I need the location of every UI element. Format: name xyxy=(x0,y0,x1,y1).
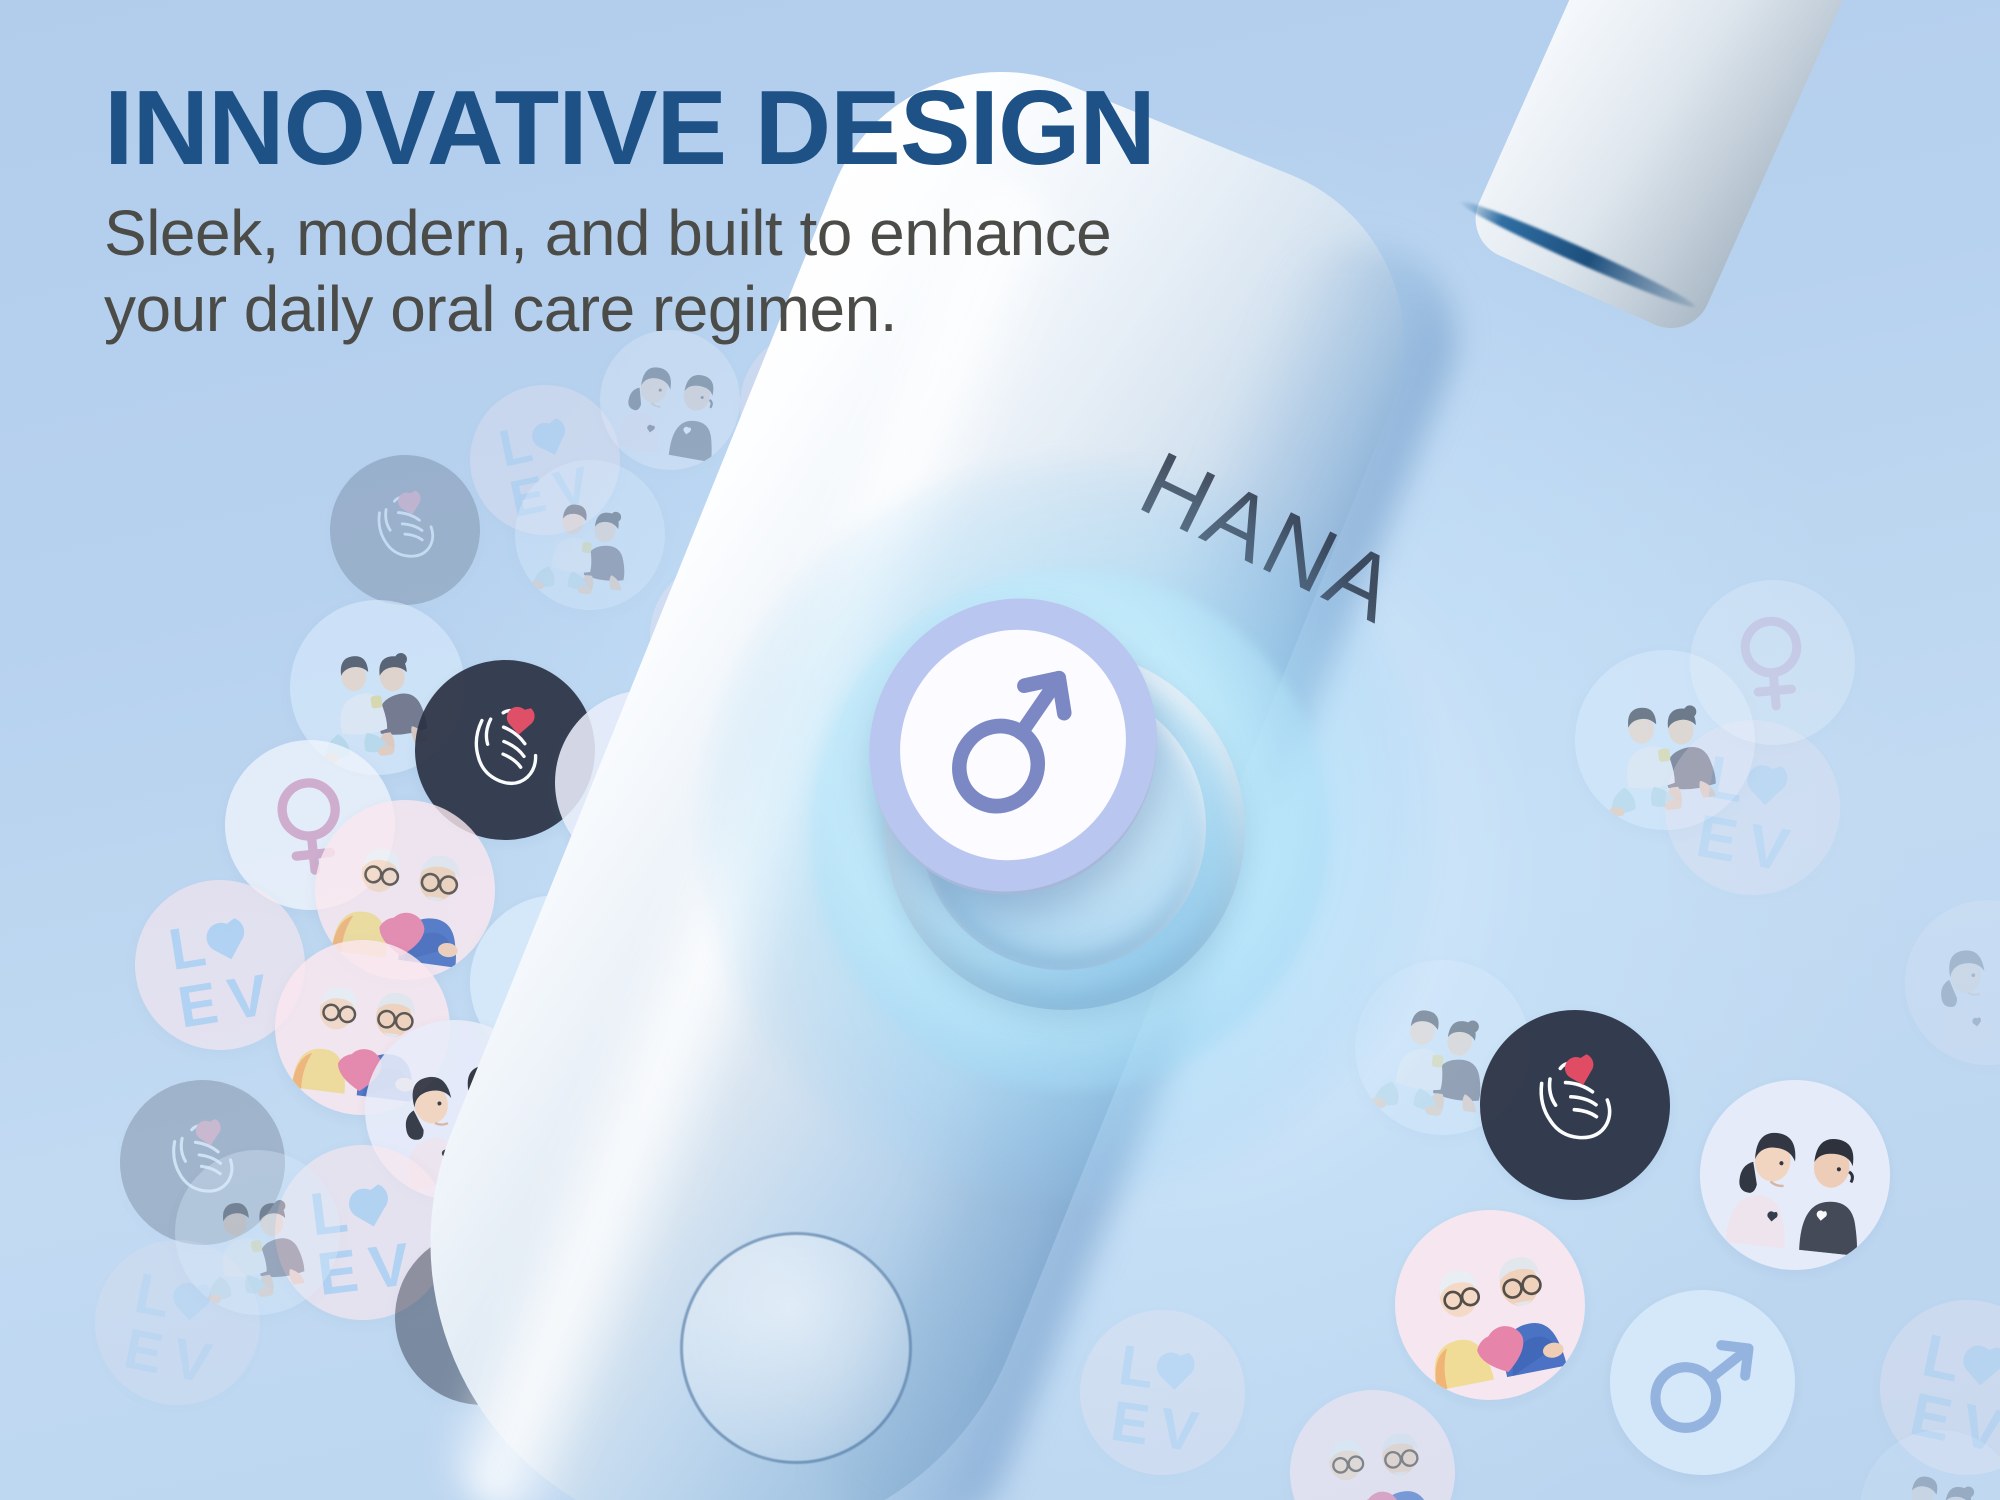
svg-text:E: E xyxy=(1141,588,1185,652)
svg-text:E: E xyxy=(119,1317,166,1386)
finger-heart-icon xyxy=(1490,1020,1660,1190)
svg-text:E: E xyxy=(684,639,727,702)
svg-text:V: V xyxy=(768,1411,818,1482)
sticker-young-couple xyxy=(1894,889,2000,1075)
svg-text:V: V xyxy=(1185,598,1230,662)
love-word-icon: L V E xyxy=(1090,1320,1235,1465)
sticker-finger-heart xyxy=(320,445,489,614)
sticker-love-word: L V E xyxy=(1106,506,1284,684)
seated-couple-icon xyxy=(185,1160,330,1305)
svg-text:V: V xyxy=(598,1131,649,1204)
love-word-icon: L V E xyxy=(1126,526,1265,665)
sticker-elderly-couple xyxy=(1282,1382,1463,1500)
seated-couple-icon xyxy=(1869,1439,2000,1500)
svg-text:V: V xyxy=(223,962,272,1032)
svg-text:V: V xyxy=(1156,1396,1202,1464)
page-title: INNOVATIVE DESIGN xyxy=(104,74,1564,182)
svg-text:E: E xyxy=(1692,802,1741,875)
seated-couple-icon xyxy=(728,748,886,906)
svg-text:V: V xyxy=(1743,811,1794,884)
sticker-young-couple xyxy=(1035,375,1195,535)
svg-text:E: E xyxy=(1107,1389,1151,1456)
page-subtitle: Sleek, modern, and built to enhance your… xyxy=(104,196,1564,347)
finger-heart-icon xyxy=(339,464,471,596)
young-couple-icon xyxy=(607,337,733,463)
love-word-icon: L V E xyxy=(688,1338,842,1492)
love-word-icon: L V E xyxy=(657,567,793,703)
male-symbol-icon xyxy=(1622,1302,1783,1463)
female-symbol-icon xyxy=(1703,593,1842,732)
svg-text:E: E xyxy=(719,1420,767,1490)
subtitle-line-2: your daily oral care regimen. xyxy=(104,272,1564,348)
svg-text:V: V xyxy=(728,631,772,694)
promo-banner: L V E xyxy=(0,0,2000,1500)
sticker-male-symbol xyxy=(1599,1279,1805,1485)
elderly-couple-icon xyxy=(1403,1218,1577,1392)
love-word-icon: L V E xyxy=(144,889,296,1041)
young-couple-icon xyxy=(1915,910,2000,1055)
finger-heart-icon xyxy=(830,450,971,591)
sticker-elderly-couple xyxy=(1379,1194,1602,1417)
love-word-icon: L V E xyxy=(1673,728,1831,886)
seated-couple-icon xyxy=(526,471,655,600)
svg-text:E: E xyxy=(173,970,220,1040)
sticker-love-word: L V E xyxy=(1069,1299,1255,1485)
svg-text:E: E xyxy=(547,1122,596,1195)
young-couple-icon xyxy=(568,703,727,862)
young-couple-icon xyxy=(1714,1094,1877,1257)
seated-couple-icon xyxy=(547,1282,697,1432)
elderly-couple-icon xyxy=(1302,1402,1443,1500)
subtitle-line-1: Sleek, modern, and built to enhance xyxy=(104,196,1564,272)
love-word-icon: L V E xyxy=(528,1048,686,1206)
svg-text:V: V xyxy=(167,1326,216,1395)
headline-block: INNOVATIVE DESIGN Sleek, modern, and bui… xyxy=(104,74,1564,347)
sticker-young-couple xyxy=(1691,1071,1900,1280)
young-couple-icon xyxy=(1053,393,1178,518)
